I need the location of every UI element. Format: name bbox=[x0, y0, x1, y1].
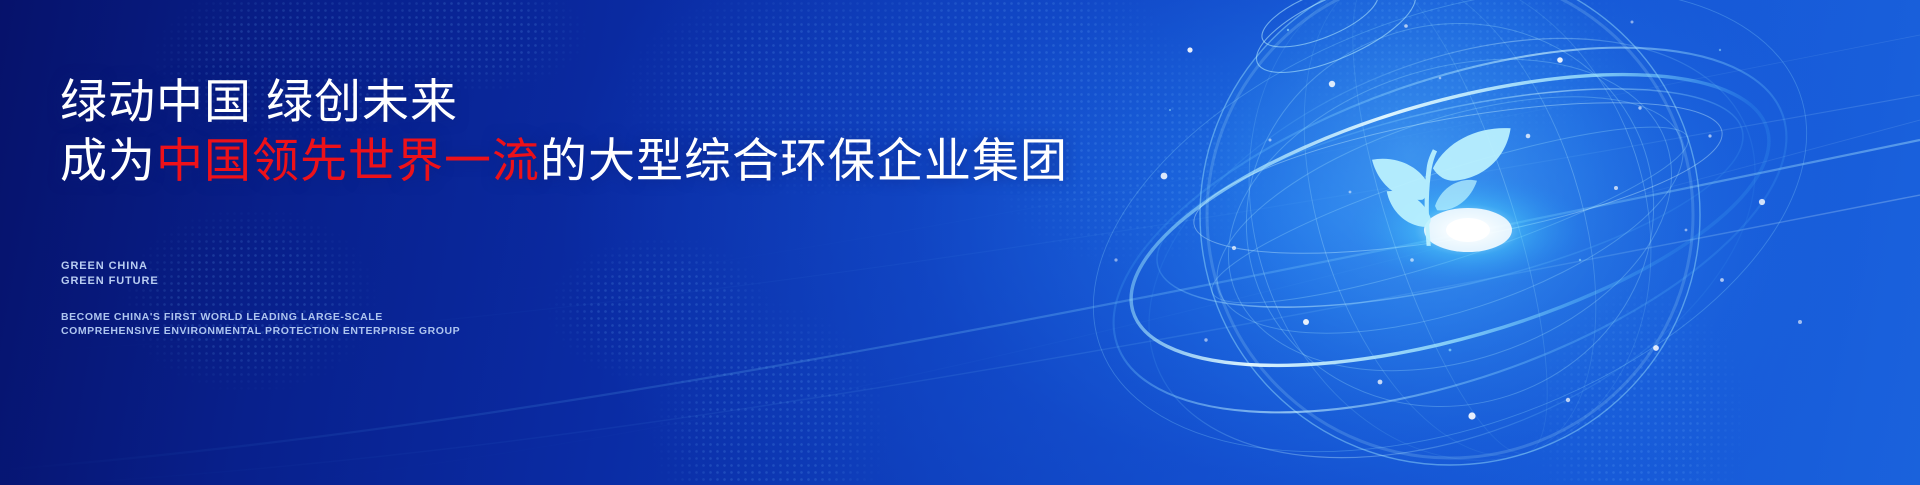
english-subline-line-2: COMPREHENSIVE ENVIRONMENTAL PROTECTION E… bbox=[61, 324, 460, 338]
english-tagline-line-1: GREEN CHINA bbox=[61, 259, 159, 274]
headline-block: 绿动中国 绿创未来 成为中国领先世界一流的大型综合环保企业集团 bbox=[60, 74, 1068, 189]
english-tagline: GREEN CHINA GREEN FUTURE bbox=[61, 259, 159, 289]
headline-line-2-highlight: 中国领先世界一流 bbox=[156, 134, 540, 187]
headline-line-2-suffix: 的大型综合环保企业集团 bbox=[540, 134, 1068, 187]
english-subline-line-1: BECOME CHINA'S FIRST WORLD LEADING LARGE… bbox=[61, 310, 460, 324]
english-tagline-line-2: GREEN FUTURE bbox=[61, 274, 159, 289]
hero-banner: 绿动中国 绿创未来 成为中国领先世界一流的大型综合环保企业集团 GREEN CH… bbox=[0, 0, 1920, 485]
english-subline: BECOME CHINA'S FIRST WORLD LEADING LARGE… bbox=[61, 310, 460, 338]
dotted-world-map-background bbox=[0, 0, 1920, 485]
headline-line-1: 绿动中国 绿创未来 bbox=[60, 74, 1068, 129]
headline-line-2-prefix: 成为 bbox=[60, 134, 156, 187]
headline-line-2: 成为中国领先世界一流的大型综合环保企业集团 bbox=[60, 133, 1068, 188]
